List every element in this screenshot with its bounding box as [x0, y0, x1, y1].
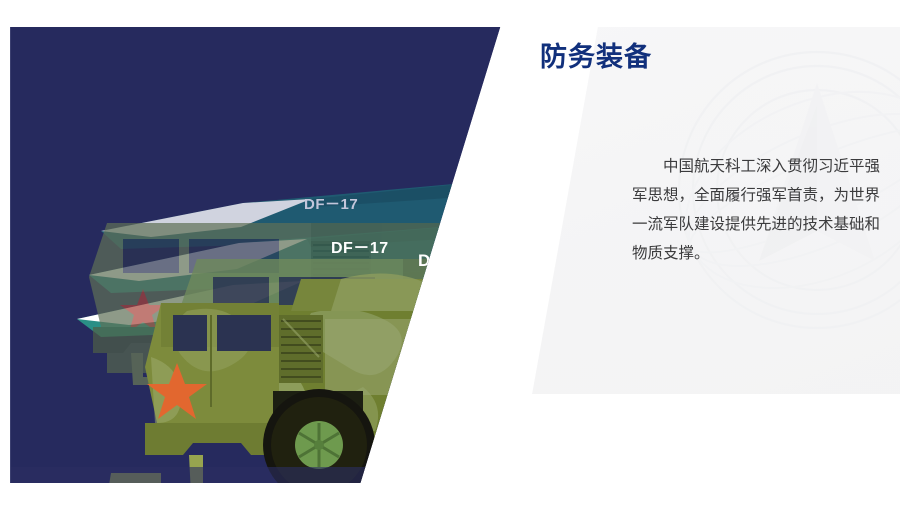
body-paragraph: 中国航天科工深入贯彻习近平强军思想，全面履行强军首责，为世界一流军队建设提供先进… [632, 152, 880, 268]
illustration-panel: DF－17 DF－17 DF－17 [10, 27, 610, 483]
ground-strip [11, 467, 610, 483]
slide-root: DF－17 DF－17 DF－17 防务装备 中国航天科工深入贯彻习近平强军思想… [0, 0, 900, 510]
wheel-rear [455, 389, 567, 483]
missile-convoy-illustration [11, 27, 610, 483]
missile-label-front: DF－17 [418, 246, 479, 271]
illustration-stage: DF－17 DF－17 DF－17 [11, 27, 610, 483]
launcher-truck-front [107, 273, 610, 483]
page-title: 防务装备 [540, 41, 652, 73]
missile-label-middle: DF－17 [331, 234, 389, 258]
missile-label-rear: DF－17 [304, 193, 358, 214]
